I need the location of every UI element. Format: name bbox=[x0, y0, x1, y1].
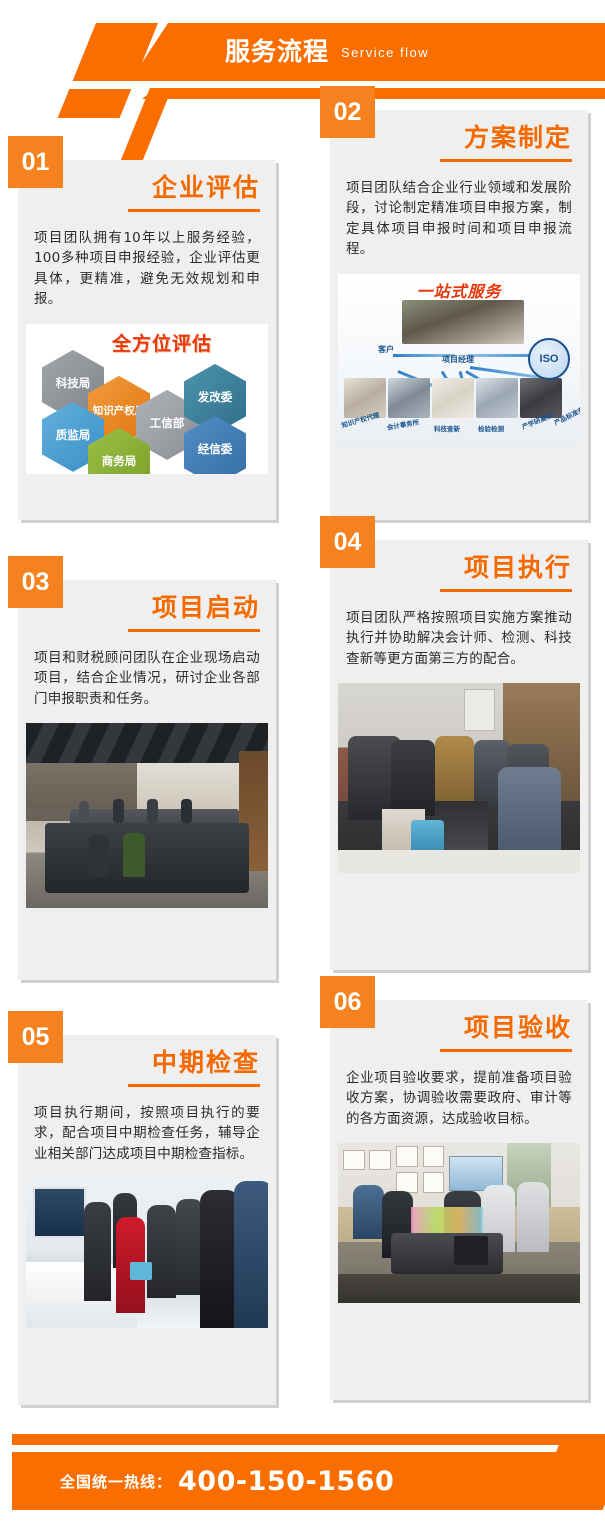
step-number-badge-05: 05 bbox=[8, 1011, 63, 1063]
step-body-01: 项目团队拥有10年以上服务经验，100多种项目申报经验，企业评估更具体，更精准，… bbox=[18, 212, 276, 324]
footer-banner: 全国统一热线： 400-150-1560 bbox=[12, 1452, 592, 1510]
hex-chart-title: 全方位评估 bbox=[112, 329, 212, 356]
step-number-badge-04: 04 bbox=[320, 516, 375, 568]
step-number-badge-03: 03 bbox=[8, 556, 63, 608]
step-number-badge-01: 01 bbox=[8, 136, 63, 188]
step-card-05[interactable]: 05 中期检查 项目执行期间，按照项目执行的要求，配合项目中期检查任务，辅导企业… bbox=[18, 1035, 276, 1405]
hexagon-assessment-chart: 全方位评估 科技局 知识产权局 质监局 工信部 商务局 发改委 经信委 bbox=[26, 324, 268, 474]
os-node-label-4: 检验检测 bbox=[478, 423, 504, 433]
step-card-04[interactable]: 04 项目执行 项目团队严格按照项目实施方案推动执行并协助解决会计师、检测、科技… bbox=[330, 540, 588, 970]
step-body-05: 项目执行期间，按照项目执行的要求，配合项目中期检查任务，辅导企业相关部门达成项目… bbox=[18, 1087, 276, 1179]
step-body-03: 项目和财税顾问团队在企业现场启动项目，结合企业情况，研讨企业各部门申报职责和任务… bbox=[18, 632, 276, 724]
page-subtitle: Service flow bbox=[341, 46, 429, 59]
hotline-number[interactable]: 400-150-1560 bbox=[178, 1466, 394, 1497]
step-number-badge-02: 02 bbox=[320, 86, 375, 138]
iso-seal-icon: ISO bbox=[528, 338, 570, 380]
page-footer: 全国统一热线： 400-150-1560 bbox=[0, 1420, 605, 1538]
os-thumb-5 bbox=[520, 378, 562, 418]
os-thumb-4 bbox=[476, 378, 518, 418]
header-banner: 服务流程 Service flow bbox=[130, 23, 605, 81]
page-header: 服务流程 Service flow bbox=[0, 0, 605, 118]
certificates-conference-photo bbox=[338, 1143, 580, 1303]
infographic-page: 服务流程 Service flow 01 企业评估 项目团队拥有10年以上服务经… bbox=[0, 0, 605, 1538]
step-card-06[interactable]: 06 项目验收 企业项目验收要求，提前准备项目验收方案，协调验收需要政府、审计等… bbox=[330, 1000, 588, 1400]
os-label-manager: 项目经理 bbox=[442, 354, 474, 365]
os-meeting-photo bbox=[402, 300, 524, 344]
os-label-client: 客户 bbox=[378, 344, 394, 355]
laptop-worksession-photo bbox=[338, 683, 580, 873]
step-body-04: 项目团队严格按照项目实施方案推动执行并协助解决会计师、检测、科技查新等更方面第三… bbox=[330, 592, 588, 684]
page-title: 服务流程 bbox=[225, 40, 329, 65]
step-card-01[interactable]: 01 企业评估 项目团队拥有10年以上服务经验，100多种项目申报经验，企业评估… bbox=[18, 160, 276, 520]
step-card-02[interactable]: 02 方案制定 项目团队结合企业行业领域和发展阶段，讨论制定精准项目申报方案，制… bbox=[330, 110, 588, 520]
facility-tour-photo bbox=[26, 1178, 268, 1328]
os-node-label-3: 科技查新 bbox=[434, 423, 460, 433]
step-number-badge-06: 06 bbox=[320, 976, 375, 1028]
footer-top-stripe bbox=[12, 1434, 592, 1445]
hotline-label: 全国统一热线： bbox=[60, 1471, 172, 1492]
header-notch-mask bbox=[0, 81, 162, 89]
os-thumb-3 bbox=[432, 378, 474, 418]
os-thumb-2 bbox=[388, 378, 430, 418]
step-card-03[interactable]: 03 项目启动 项目和财税顾问团队在企业现场启动项目，结合企业情况，研讨企业各部… bbox=[18, 580, 276, 980]
one-stop-service-diagram: 一站式服务 客户 项目经理 ISO 知识产权代理 会计事务所 科技查新 检验检测 bbox=[338, 274, 580, 446]
os-node-label-2: 会计事务所 bbox=[386, 416, 420, 431]
step-body-06: 企业项目验收要求，提前准备项目验收方案，协调验收需要政府、审计等的各方面资源，达… bbox=[330, 1052, 588, 1144]
conference-room-meeting-photo bbox=[26, 723, 268, 908]
step-body-02: 项目团队结合企业行业领域和发展阶段，讨论制定精准项目申报方案，制定具体项目申报时… bbox=[330, 162, 588, 274]
one-stop-title: 一站式服务 bbox=[338, 278, 580, 302]
